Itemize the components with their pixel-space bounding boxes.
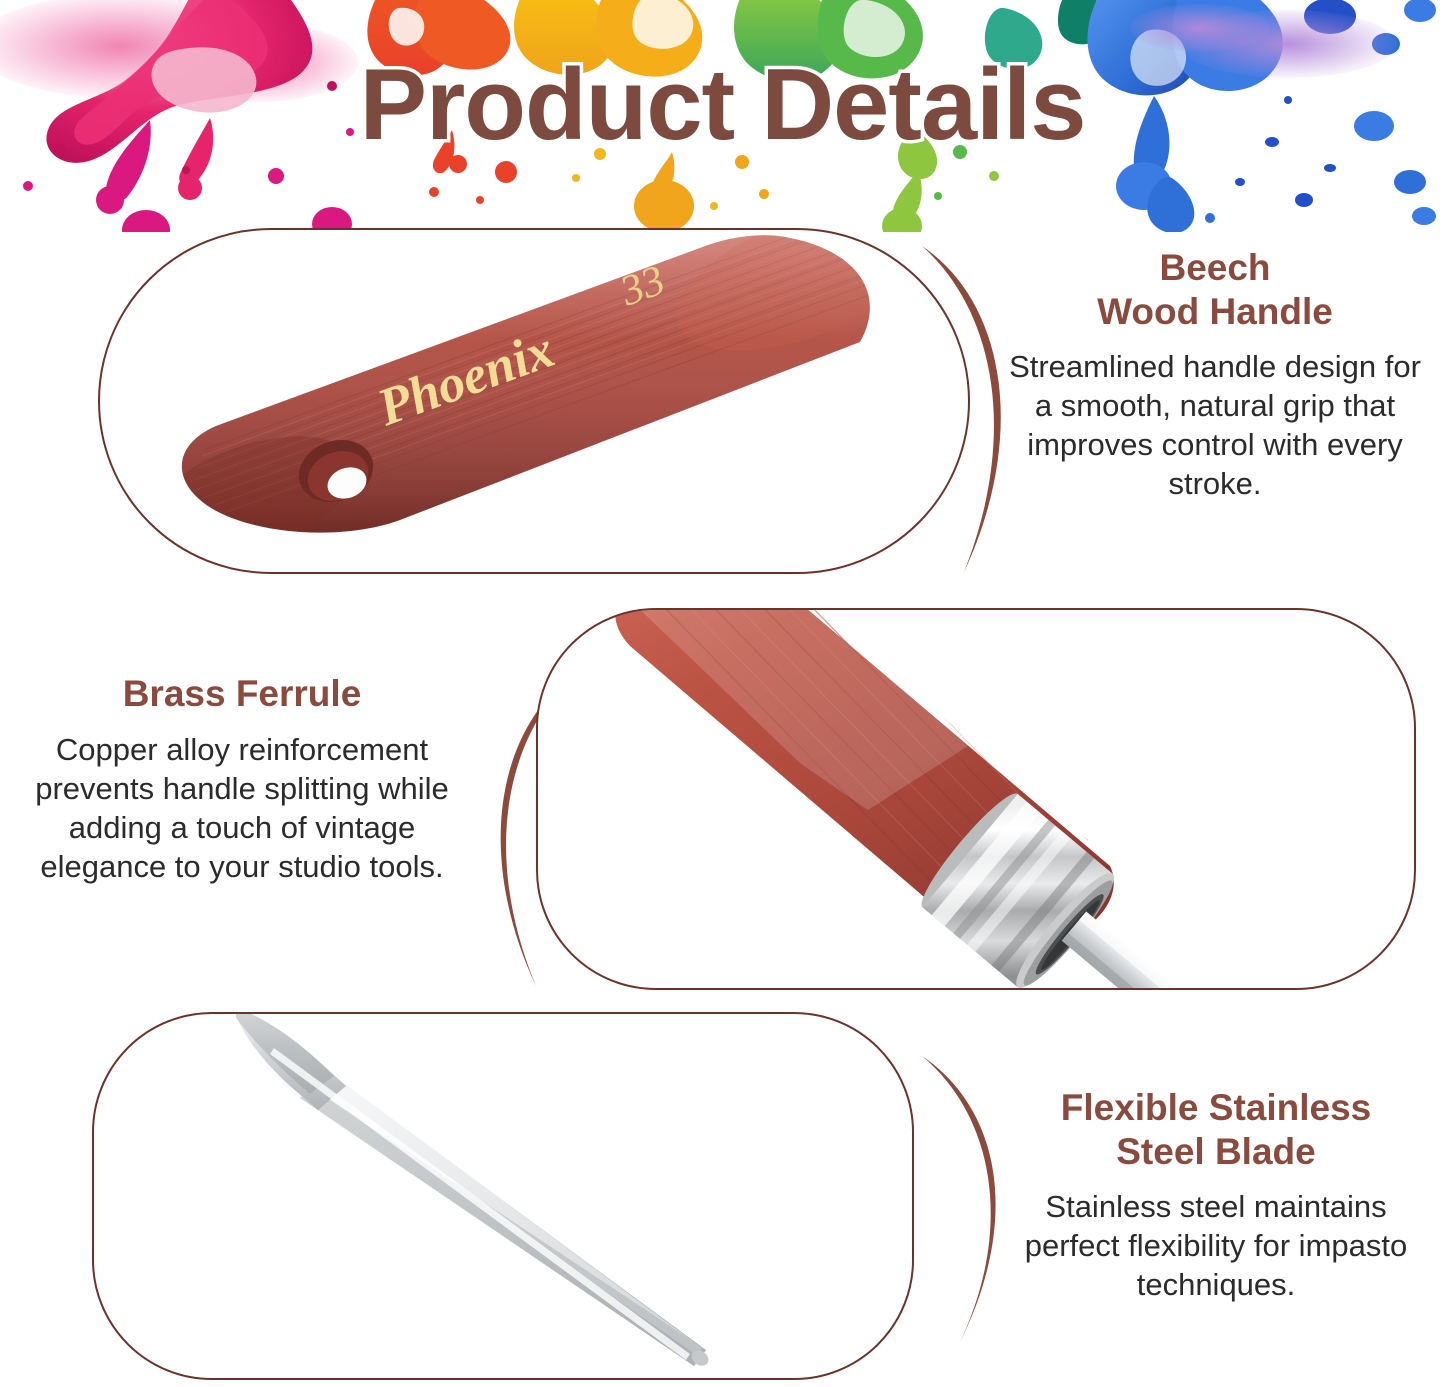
page-title: Product Details — [0, 52, 1445, 158]
feature-section-stainless-steel-blade: Flexible Stainless Steel Blade Stainless… — [0, 0, 1445, 1387]
product-image-frame-3 — [92, 1012, 914, 1380]
feature-heading-3: Flexible Stainless Steel Blade — [996, 1086, 1436, 1173]
product-details-infographic: Product Details — [0, 0, 1445, 1387]
feature-text-block-3: Flexible Stainless Steel Blade Stainless… — [996, 1086, 1436, 1304]
stainless-steel-blade-image — [94, 1014, 914, 1380]
feature-heading-3-line1: Flexible Stainless — [1061, 1087, 1372, 1128]
feature-heading-3-line2: Steel Blade — [1116, 1131, 1315, 1172]
feature-body-3: Stainless steel maintains perfect flexib… — [996, 1187, 1436, 1304]
